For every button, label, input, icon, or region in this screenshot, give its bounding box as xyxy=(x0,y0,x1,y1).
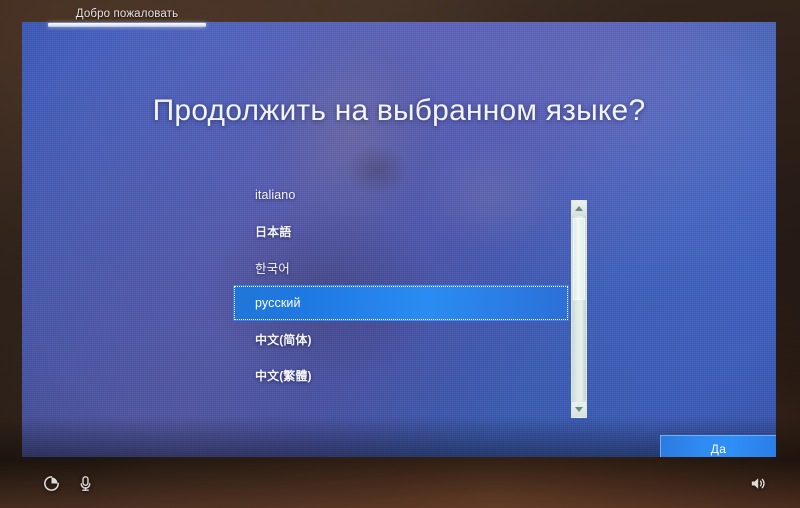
language-label: italiano xyxy=(255,188,295,202)
screen-area: Продолжить на выбранном языке? italiano … xyxy=(22,22,776,457)
language-option-italiano[interactable]: italiano xyxy=(233,177,569,213)
language-label: 日本語 xyxy=(255,223,291,240)
volume-icon[interactable] xyxy=(744,470,770,496)
language-option-japanese[interactable]: 日本語 xyxy=(233,213,569,249)
scrollbar-thumb[interactable] xyxy=(573,218,585,300)
language-label: 中文(简体) xyxy=(255,331,312,348)
chevron-up-icon xyxy=(575,206,583,211)
language-label: 中文(繁體) xyxy=(255,367,312,384)
confirm-button[interactable]: Да xyxy=(660,435,776,457)
ease-of-access-icon[interactable] xyxy=(38,470,64,496)
language-option-russian[interactable]: русский xyxy=(233,285,569,321)
language-list[interactable]: italiano 日本語 한국어 русский 中文(简体) 中文(繁體) xyxy=(233,177,569,397)
tab-active-underline xyxy=(48,23,206,27)
page-title: Продолжить на выбранном языке? xyxy=(22,94,776,128)
language-label: русский xyxy=(255,296,301,310)
tab-welcome-label: Добро пожаловать xyxy=(76,8,179,20)
language-option-chinese-traditional[interactable]: 中文(繁體) xyxy=(233,357,569,393)
tray-bar xyxy=(0,457,800,508)
language-option-chinese-simplified[interactable]: 中文(简体) xyxy=(233,321,569,357)
language-option-korean[interactable]: 한국어 xyxy=(233,249,569,285)
language-label: 한국어 xyxy=(255,258,290,277)
tab-strip: Добро пожаловать xyxy=(0,0,800,28)
monitor-photo: Продолжить на выбранном языке? italiano … xyxy=(0,0,800,508)
scroll-down-button[interactable] xyxy=(572,402,586,417)
chevron-down-icon xyxy=(575,407,583,412)
input-method-icon[interactable] xyxy=(72,470,98,496)
scroll-up-button[interactable] xyxy=(572,201,586,216)
language-list-scrollbar[interactable] xyxy=(571,200,587,418)
